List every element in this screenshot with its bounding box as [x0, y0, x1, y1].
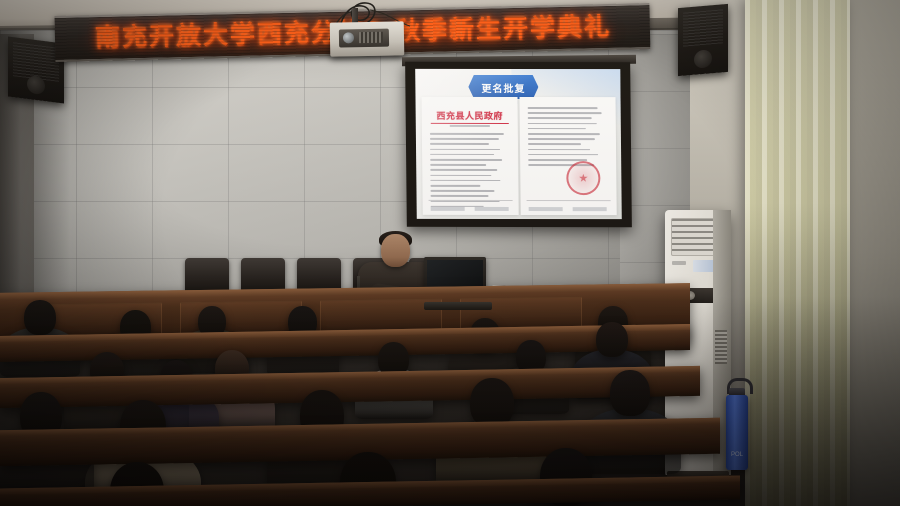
ac-air-vent: [671, 218, 715, 256]
document-text-line: [430, 190, 494, 192]
document-text-line: [430, 143, 489, 145]
document-text-line: [528, 159, 587, 161]
document-footer-left: [529, 207, 563, 211]
document-text-line: [528, 107, 598, 109]
document-text-line: [528, 133, 600, 135]
projection-screen-frame: 更名批复 西充县人民政府: [405, 62, 632, 227]
document-page-right: [520, 97, 617, 215]
slide-blue-banner: 更名批复: [468, 75, 538, 99]
document-text-line: [528, 123, 597, 125]
ac-energy-label: [693, 260, 715, 272]
ac-brand-mark: [672, 261, 686, 265]
audience-member-head: [610, 370, 650, 416]
ceiling-projector: [330, 21, 405, 56]
document-text-line: [430, 169, 497, 171]
chair: [185, 258, 229, 292]
document-text-line: [430, 133, 504, 135]
projector-vent: [359, 32, 383, 43]
bottle-label: POL: [726, 452, 748, 458]
document-text-line: [528, 143, 581, 145]
chair: [241, 258, 285, 292]
document-text-line: [430, 138, 499, 140]
document-text-line: [528, 149, 590, 151]
audience-member-head: [24, 300, 56, 335]
document-text-line: [430, 148, 500, 150]
speaker-grill: [683, 9, 723, 46]
document-text-line: [528, 128, 586, 130]
presenter-head: [381, 234, 410, 267]
document-text-line: [528, 138, 595, 140]
document-text-line: [528, 112, 602, 114]
blue-water-bottle: POL: [726, 395, 748, 470]
document-footer-left: [431, 207, 465, 211]
audience-member-head: [596, 322, 628, 357]
document-footer-right: [475, 207, 509, 211]
document-text-line: [528, 154, 598, 156]
document-title: 西充县人民政府: [432, 109, 508, 122]
wall-speaker-right: [678, 4, 728, 76]
ac-side-vent: [715, 330, 727, 364]
curtain-shading: [745, 0, 850, 506]
document-text-line: [430, 154, 494, 156]
document-text-line: [430, 174, 491, 176]
document-subheader: [450, 125, 490, 127]
projection-screen: 更名批复 西充县人民政府: [415, 69, 622, 219]
document-text-line: [430, 180, 500, 182]
lecture-hall-photo: 南充开放大学西充分校2 秋季新生开学典礼 更名批复 西充县人民政府: [0, 0, 900, 506]
document-text-line: [430, 164, 486, 166]
document-text-line: [528, 117, 592, 119]
document-footer-rule: [429, 200, 513, 206]
document-page-left: 西充县人民政府: [421, 97, 518, 215]
document-text-line: [431, 195, 489, 197]
document-text-line: [430, 185, 480, 187]
document-text-line: [430, 159, 502, 161]
slide-blue-banner-label: 更名批复: [481, 79, 525, 94]
document-footer-right: [573, 207, 607, 211]
official-seal: [566, 161, 600, 195]
document-red-rule: [431, 123, 509, 124]
keyboard: [424, 302, 492, 310]
document-footer-rule: [527, 200, 611, 206]
chair: [297, 258, 341, 292]
speaker-cone: [694, 49, 712, 69]
